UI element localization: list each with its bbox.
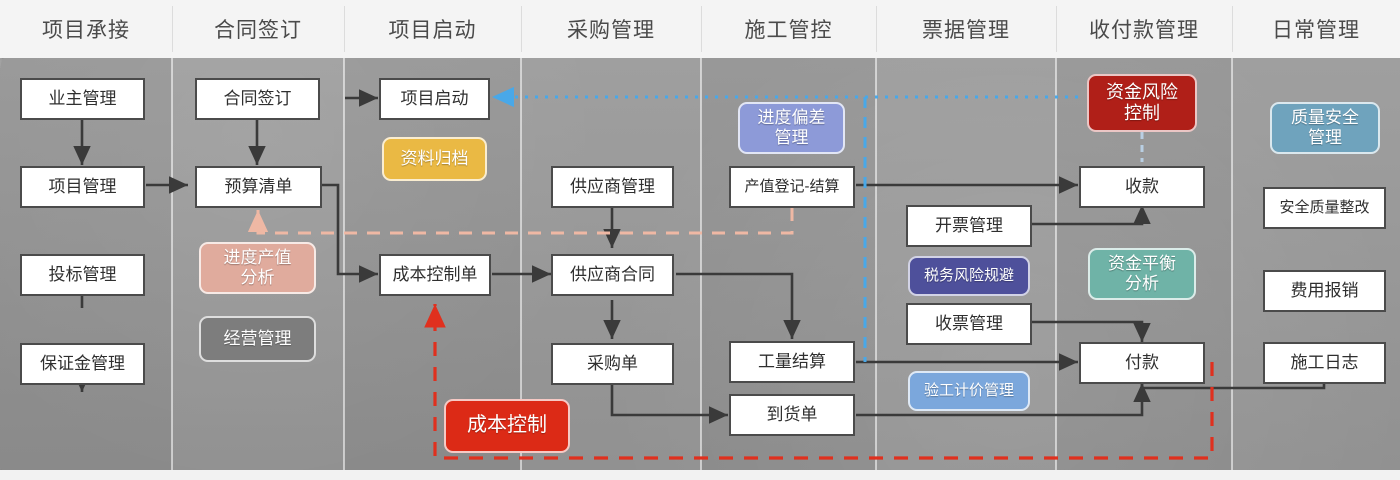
node-fund-risk-control[interactable]: 资金风险控制 [1087, 74, 1197, 132]
column-header-2: 合同签订 [172, 0, 344, 58]
node-supplier-contract[interactable]: 供应商合同 [551, 254, 674, 296]
column-header-7: 收付款管理 [1056, 0, 1232, 58]
workflow-diagram: 项目承接 合同签订 项目启动 采购管理 施工管控 票据管理 收付款管理 日常管理 [0, 0, 1400, 480]
node-construction-log[interactable]: 施工日志 [1263, 342, 1386, 384]
column-header-8: 日常管理 [1232, 0, 1400, 58]
node-bid-mgmt[interactable]: 投标管理 [20, 254, 145, 296]
node-cost-control-form[interactable]: 成本控制单 [379, 254, 491, 296]
node-owner-mgmt[interactable]: 业主管理 [20, 78, 145, 120]
node-project-start[interactable]: 项目启动 [379, 78, 490, 120]
node-goods-receipt[interactable]: 到货单 [729, 394, 855, 436]
column-header-3: 项目启动 [344, 0, 521, 58]
node-deposit-mgmt[interactable]: 保证金管理 [20, 343, 145, 385]
node-progress-output-analysis[interactable]: 进度产值分析 [199, 242, 316, 294]
node-payment[interactable]: 付款 [1079, 342, 1205, 384]
node-fund-balance-analysis[interactable]: 资金平衡分析 [1088, 248, 1196, 300]
node-cost-control[interactable]: 成本控制 [444, 399, 570, 453]
node-tax-risk-avoidance[interactable]: 税务风险规避 [908, 256, 1030, 296]
node-expense-reimbursement[interactable]: 费用报销 [1263, 270, 1386, 312]
node-work-valuation-mgmt[interactable]: 验工计价管理 [908, 371, 1030, 411]
node-receipt[interactable]: 收款 [1079, 166, 1205, 208]
node-supplier-mgmt[interactable]: 供应商管理 [551, 166, 674, 208]
node-contract-sign[interactable]: 合同签订 [195, 78, 320, 120]
node-doc-archive[interactable]: 资料归档 [382, 137, 487, 181]
node-invoice-issue-mgmt[interactable]: 开票管理 [906, 205, 1032, 247]
node-safety-quality-rectification[interactable]: 安全质量整改 [1263, 187, 1386, 229]
column-header-bar: 项目承接 合同签订 项目启动 采购管理 施工管控 票据管理 收付款管理 日常管理 [0, 0, 1400, 58]
column-header-1: 项目承接 [0, 0, 172, 58]
node-quality-safety-mgmt[interactable]: 质量安全管理 [1270, 102, 1380, 154]
node-purchase-order[interactable]: 采购单 [551, 343, 674, 385]
node-quantity-settlement[interactable]: 工量结算 [729, 341, 855, 383]
column-header-6: 票据管理 [876, 0, 1056, 58]
column-header-4: 采购管理 [521, 0, 701, 58]
node-schedule-deviation-mgmt[interactable]: 进度偏差管理 [738, 102, 845, 154]
node-output-registration-settlement[interactable]: 产值登记-结算 [729, 166, 855, 208]
node-project-mgmt[interactable]: 项目管理 [20, 166, 145, 208]
node-invoice-receipt-mgmt[interactable]: 收票管理 [906, 303, 1032, 345]
column-header-5: 施工管控 [701, 0, 876, 58]
diagram-canvas: 业主管理 项目管理 投标管理 保证金管理 合同签订 预算清单 进度产值分析 经营… [0, 58, 1400, 470]
node-budget-list[interactable]: 预算清单 [195, 166, 322, 208]
node-business-mgmt[interactable]: 经营管理 [199, 316, 316, 362]
